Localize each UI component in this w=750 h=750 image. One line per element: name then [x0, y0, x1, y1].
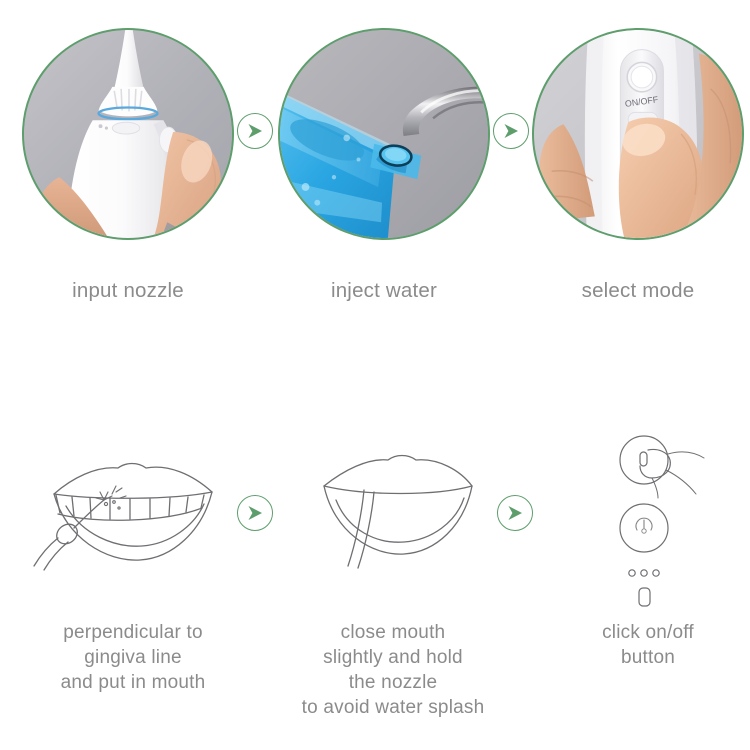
step-lineart-closed-mouth — [318, 450, 478, 570]
arrow-step-1-to-2-icon — [237, 113, 273, 149]
step-caption-click-onoff: click on/off button — [548, 620, 748, 670]
instruction-infographic: ON/OFF SOFT PULSE — [0, 0, 750, 750]
step-photo-inject-water-image — [280, 30, 488, 238]
step-lineart-open-mouth — [26, 450, 241, 570]
step-caption-input-nozzle: input nozzle — [22, 278, 234, 303]
arrow-step-2-to-3-icon — [493, 113, 529, 149]
step-caption-perpendicular: perpendicular to gingiva line and put in… — [8, 620, 258, 695]
step-caption-close-mouth: close mouth slightly and hold the nozzle… — [278, 620, 508, 720]
step-caption-inject-water: inject water — [278, 278, 490, 303]
step-caption-select-mode: select mode — [532, 278, 744, 303]
step-photo-select-mode: ON/OFF SOFT PULSE — [532, 28, 744, 240]
step-photo-select-mode-image: ON/OFF SOFT PULSE — [534, 30, 742, 238]
step-lineart-click-onoff — [596, 428, 716, 608]
step-photo-input-nozzle — [22, 28, 234, 240]
arrow-step-5-to-6-icon — [497, 495, 533, 531]
step-photo-inject-water — [278, 28, 490, 240]
arrow-step-4-to-5-icon — [237, 495, 273, 531]
step-photo-input-nozzle-image — [24, 30, 232, 238]
